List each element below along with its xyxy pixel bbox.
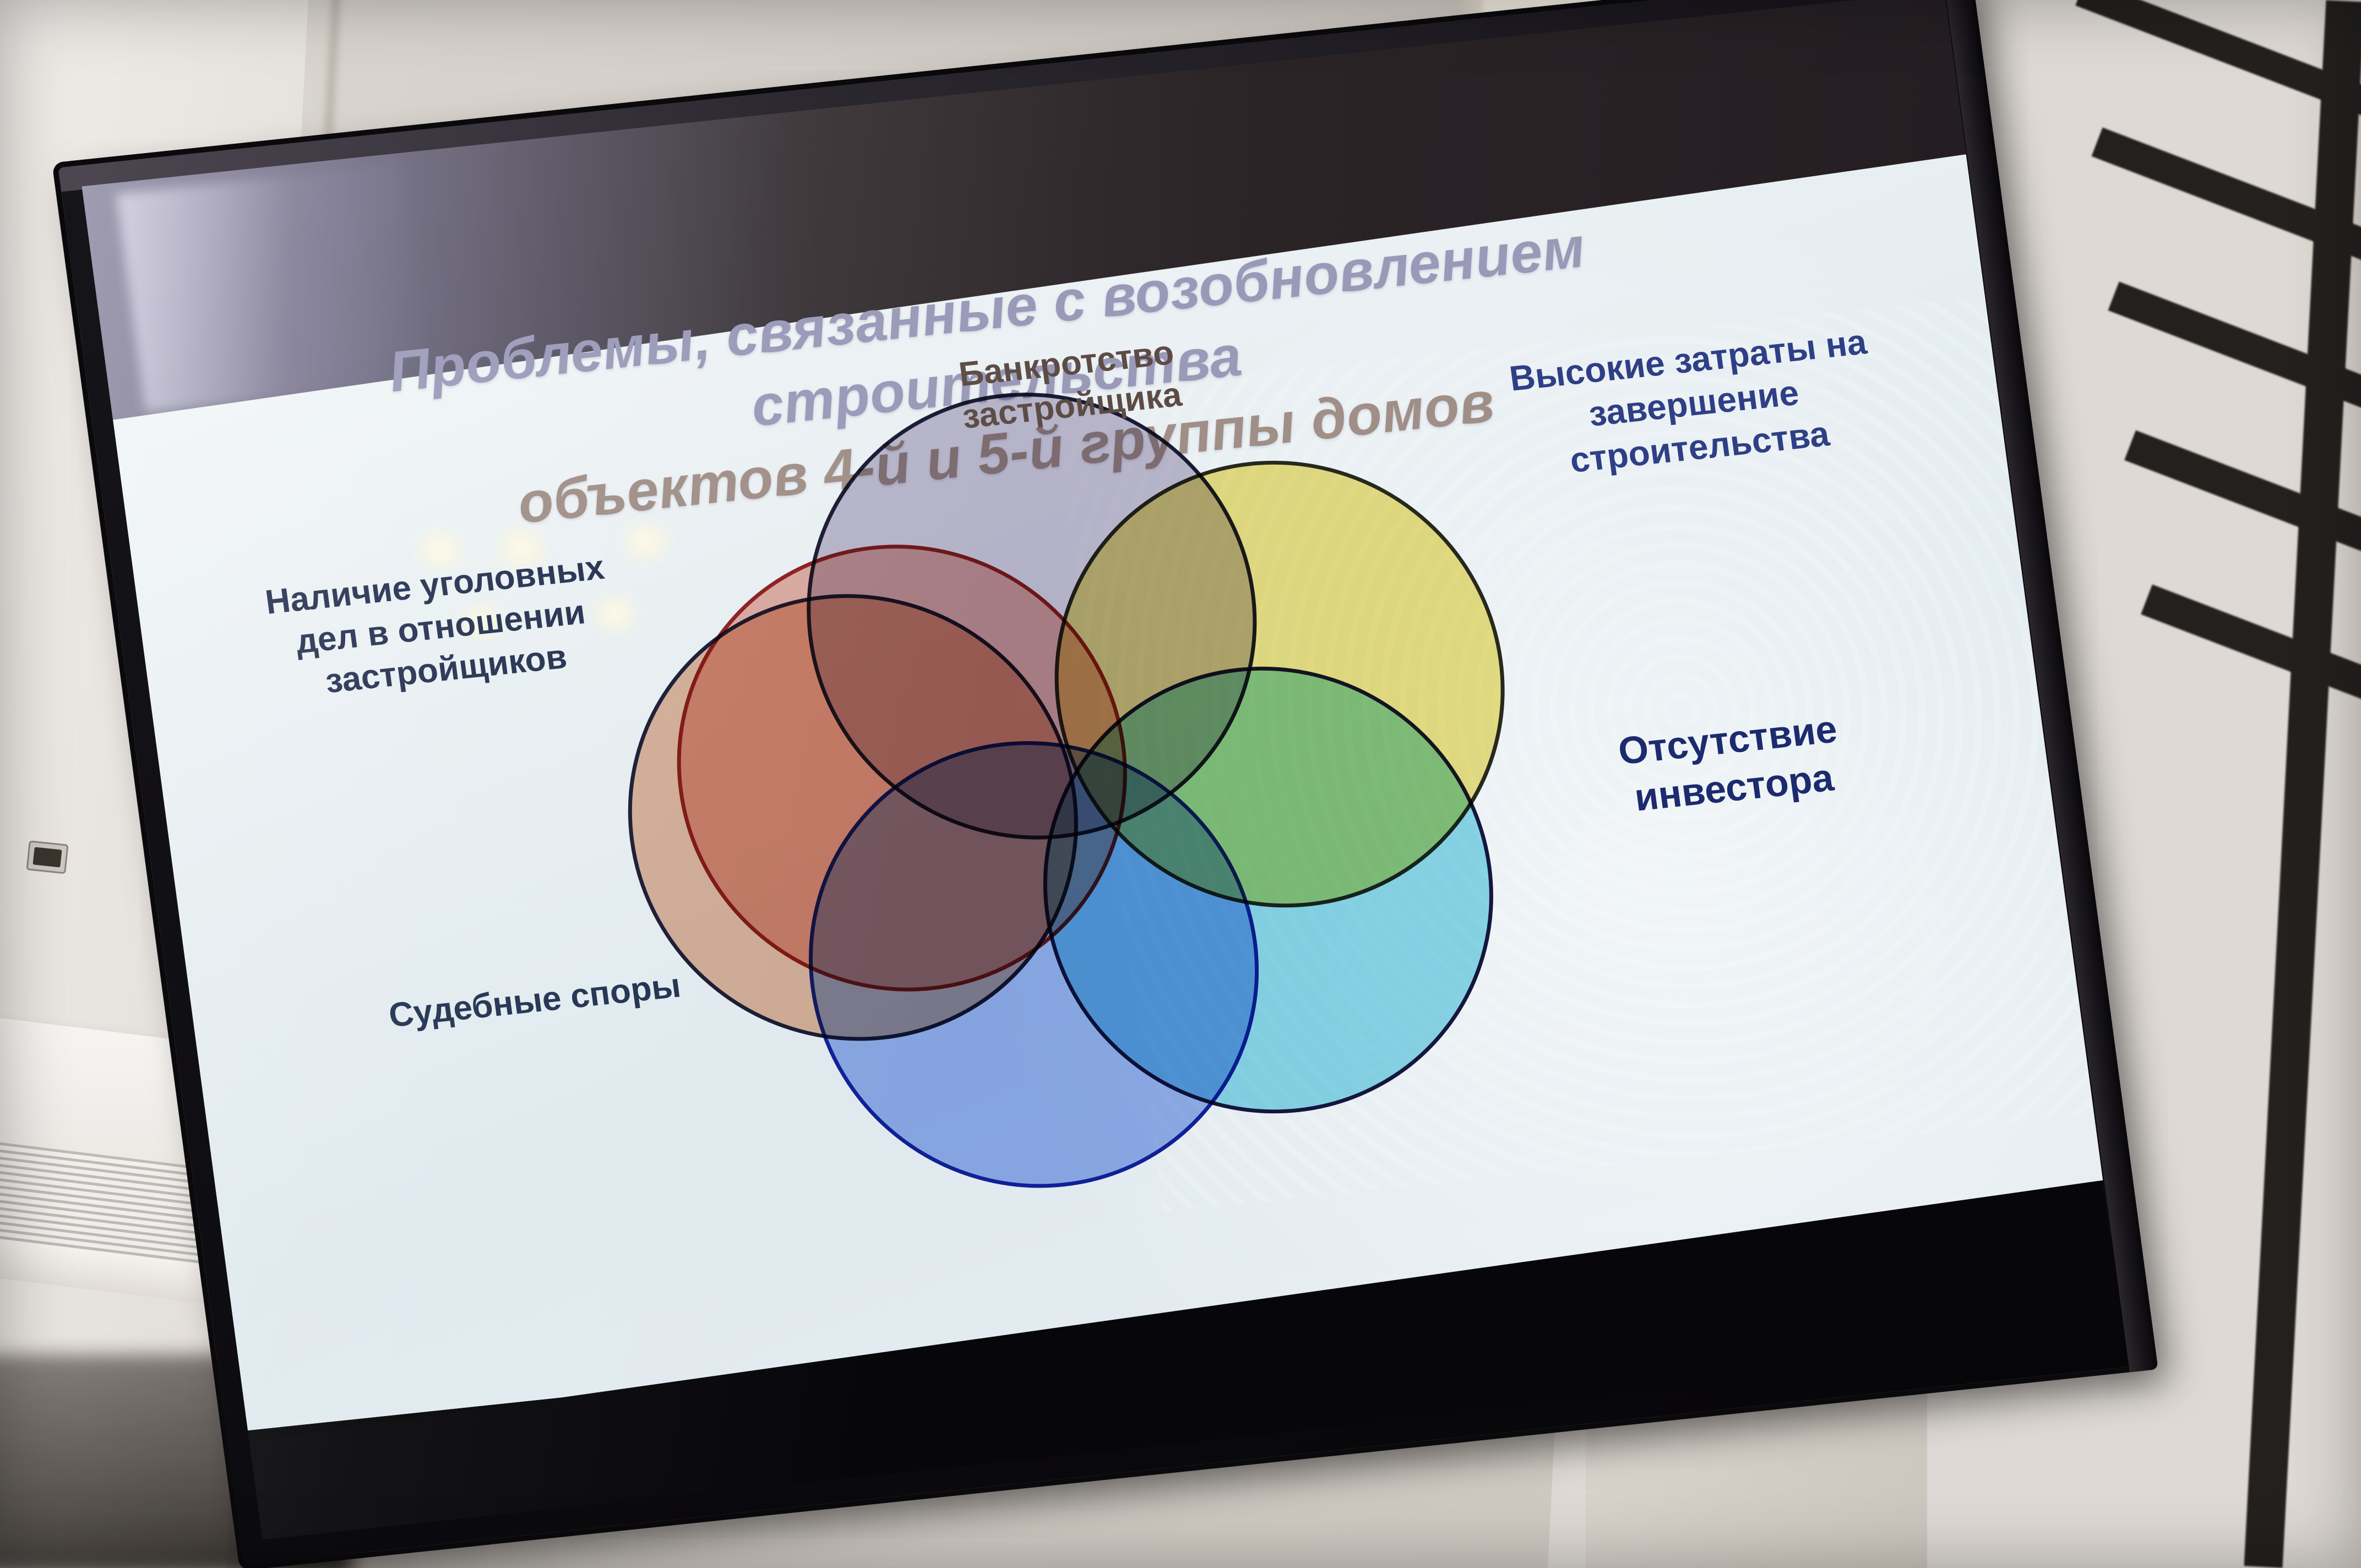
room-scene: Проблемы, связанные с возобновлением стр… bbox=[0, 0, 2361, 1568]
tv-screen[interactable]: Проблемы, связанные с возобновлением стр… bbox=[81, 0, 2125, 1540]
venn-diagram bbox=[621, 386, 1646, 1183]
television[interactable]: Проблемы, связанные с возобновлением стр… bbox=[0, 0, 2186, 1568]
ceiling-bar bbox=[2075, 0, 2361, 116]
wall-socket bbox=[26, 840, 68, 874]
